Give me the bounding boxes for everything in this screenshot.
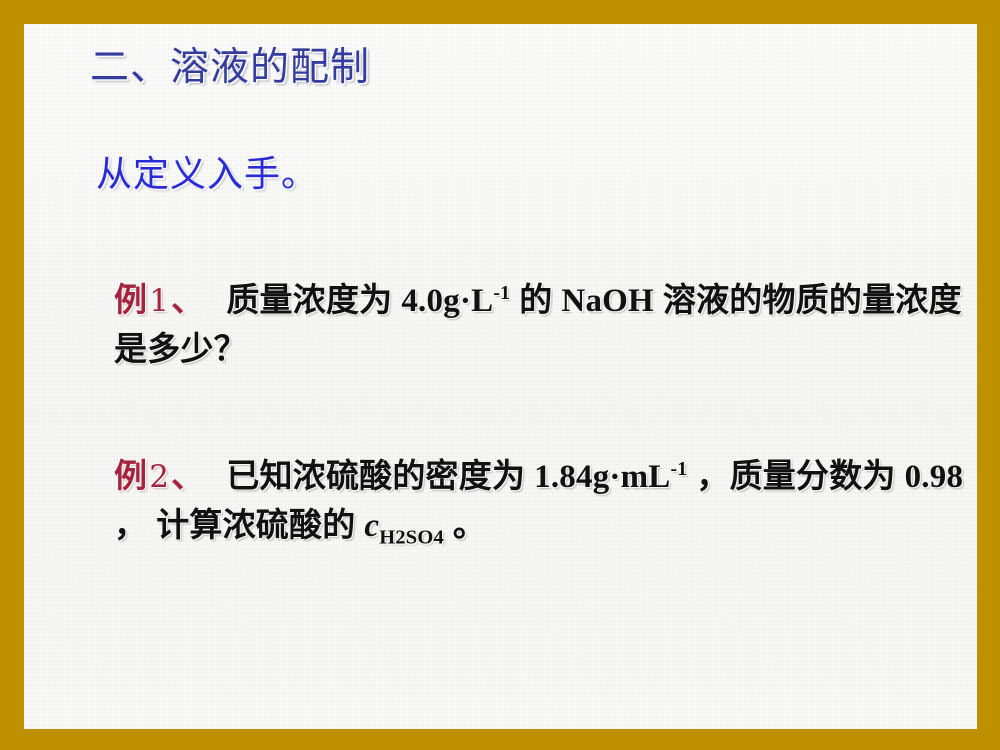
example-1-separator: 、 bbox=[171, 280, 204, 319]
example-2-concentration-subscript: H2SO4 bbox=[379, 527, 444, 549]
example-2-separator: 、 bbox=[171, 456, 204, 495]
example-2-comma-1: ， bbox=[696, 456, 729, 495]
example-1-number: 1 bbox=[147, 283, 171, 319]
example-2-tail-text: 计算浓硫酸的 bbox=[156, 505, 355, 544]
example-2-paragraph: 例2、已知浓硫酸的密度为1.84g·mL-1，质量分数为0.98，计算浓硫酸的c… bbox=[114, 452, 977, 550]
example-1-mid-text: 的 bbox=[519, 280, 552, 319]
example-1-value-superscript: -1 bbox=[493, 282, 510, 304]
example-2-density-base: 1.84g·mL bbox=[534, 459, 670, 495]
example-1-lead-text: 质量浓度为 bbox=[226, 280, 392, 319]
example-1-label: 例 bbox=[114, 280, 147, 319]
slide-frame: 二、溶液的配制 从定义入手。 例1、质量浓度为4.0g·L-1的NaOH溶液的物… bbox=[0, 0, 1000, 750]
example-2-concentration-symbol: c bbox=[364, 508, 379, 544]
subtitle-text: 从定义入手。 bbox=[96, 151, 318, 199]
example-2-concentration-subscript-wrap: H2SO4 bbox=[379, 508, 444, 544]
slide-canvas: 二、溶液的配制 从定义入手。 例1、质量浓度为4.0g·L-1的NaOH溶液的物… bbox=[24, 24, 977, 729]
example-1-value: 4.0g·L-1 bbox=[401, 283, 510, 319]
example-2-label: 例 bbox=[114, 456, 147, 495]
example-2-mid-text: 质量分数为 bbox=[730, 456, 896, 495]
page-title: 二、溶液的配制 bbox=[90, 42, 370, 94]
example-2-lead-text: 已知浓硫酸的密度为 bbox=[226, 456, 525, 495]
example-1-paragraph: 例1、质量浓度为4.0g·L-1的NaOH溶液的物质的量浓度是多少？ bbox=[114, 276, 974, 373]
example-1-formula: NaOH bbox=[561, 283, 653, 319]
example-2-number: 2 bbox=[147, 459, 171, 495]
example-2-comma-2: ， bbox=[114, 505, 147, 544]
example-1-value-base: 4.0g·L bbox=[401, 283, 493, 319]
example-2-period: 。 bbox=[453, 505, 486, 544]
example-2-mass-fraction-value: 0.98 bbox=[905, 459, 964, 495]
example-2-density-superscript: -1 bbox=[671, 458, 688, 480]
example-2-density-value: 1.84g·mL-1 bbox=[534, 459, 687, 495]
